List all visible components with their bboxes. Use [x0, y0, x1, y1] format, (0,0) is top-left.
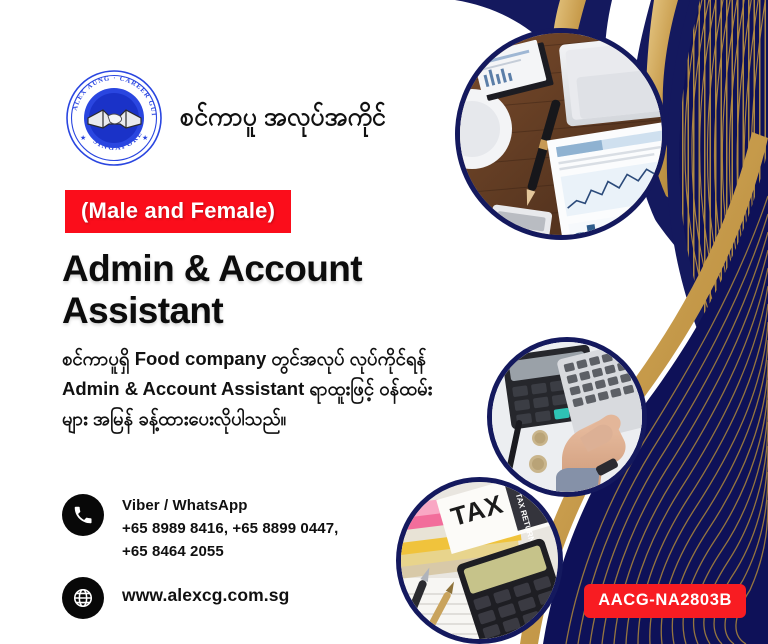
photo-hands-typing: [487, 337, 647, 497]
contact-row-phone: Viber / WhatsApp +65 8989 8416, +65 8899…: [62, 494, 338, 563]
job-poster: TAX TAX RETURN: [0, 0, 768, 644]
job-code-badge: AACG-NA2803B: [584, 584, 746, 618]
photo-desk-with-charts: [455, 28, 667, 240]
job-title: Admin & Account Assistant: [62, 248, 452, 332]
phone-label: Viber / WhatsApp: [122, 495, 338, 517]
phone-numbers-line-1: +65 8989 8416, +65 8899 0447,: [122, 517, 338, 540]
brand-title: စင်ကာပူ အလုပ်အကိုင်: [180, 104, 386, 132]
phone-text-block: Viber / WhatsApp +65 8989 8416, +65 8899…: [122, 494, 338, 563]
phone-handset-icon[interactable]: [62, 494, 104, 536]
website-url[interactable]: www.alexcg.com.sg: [122, 577, 289, 606]
contact-block: Viber / WhatsApp +65 8989 8416, +65 8899…: [62, 494, 338, 633]
phone-numbers-line-2: +65 8464 2055: [122, 540, 338, 563]
photo-tax-files-calculator: TAX TAX RETURN: [396, 477, 563, 644]
job-description: စင်ကာပူရှိ Food company တွင်အလုပ် လုပ်ကိ…: [62, 344, 434, 434]
brand-header: ALEX AUNG · CAREER GUIDANCE SERVICE SING…: [62, 66, 386, 170]
gender-badge: (Male and Female): [65, 190, 291, 233]
company-seal-logo: ALEX AUNG · CAREER GUIDANCE SERVICE SING…: [62, 66, 166, 170]
svg-text:★: ★: [142, 134, 148, 142]
globe-icon[interactable]: [62, 577, 104, 619]
svg-text:★: ★: [80, 134, 86, 142]
contact-row-website[interactable]: www.alexcg.com.sg: [62, 577, 338, 619]
